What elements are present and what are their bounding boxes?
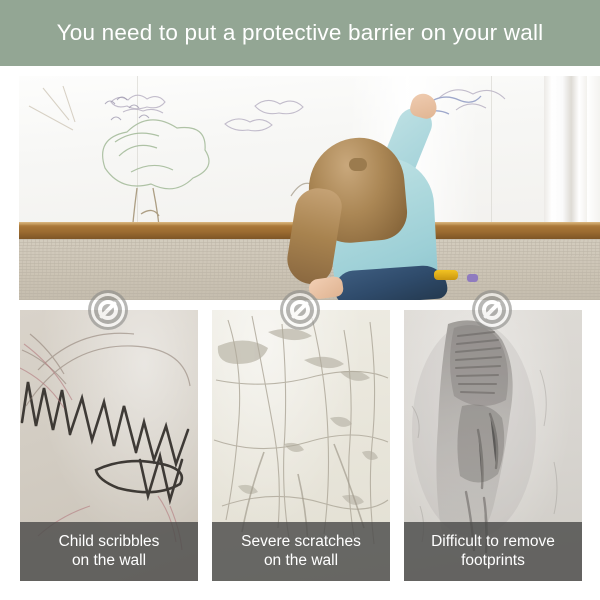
- panel-child-scribbles[interactable]: Child scribbles on the wall: [20, 310, 198, 581]
- toy-car: [434, 270, 458, 280]
- child-hair-tie: [349, 158, 367, 171]
- wall-column-edge: [587, 76, 600, 228]
- panel-caption: Severe scratches on the wall: [212, 522, 390, 581]
- caption-line-2: on the wall: [264, 552, 338, 571]
- panel-caption: Child scribbles on the wall: [20, 522, 198, 581]
- caption-line-1: Child scribbles: [59, 533, 160, 552]
- caption-line-1: Severe scratches: [241, 533, 361, 552]
- caption-line-1: Difficult to remove: [431, 533, 555, 552]
- child-figure: [271, 92, 479, 300]
- panel-caption: Difficult to remove footprints: [404, 522, 582, 581]
- page-title: You need to put a protective barrier on …: [57, 20, 544, 46]
- prohibited-icon: [472, 290, 512, 330]
- panel-severe-scratches[interactable]: Severe scratches on the wall: [212, 310, 390, 581]
- panel-difficult-footprints[interactable]: Difficult to remove footprints: [404, 310, 582, 581]
- prohibited-icon: [280, 290, 320, 330]
- header-banner: You need to put a protective barrier on …: [0, 0, 600, 66]
- problem-panels: Child scribbles on the wall: [20, 310, 582, 581]
- toy-block: [467, 274, 478, 282]
- hero-photo: [19, 76, 600, 300]
- caption-line-2: on the wall: [72, 552, 146, 571]
- prohibited-icon: [88, 290, 128, 330]
- caption-line-2: footprints: [461, 552, 525, 571]
- wall-column-molding: [544, 76, 588, 228]
- promo-infographic: You need to put a protective barrier on …: [0, 0, 600, 600]
